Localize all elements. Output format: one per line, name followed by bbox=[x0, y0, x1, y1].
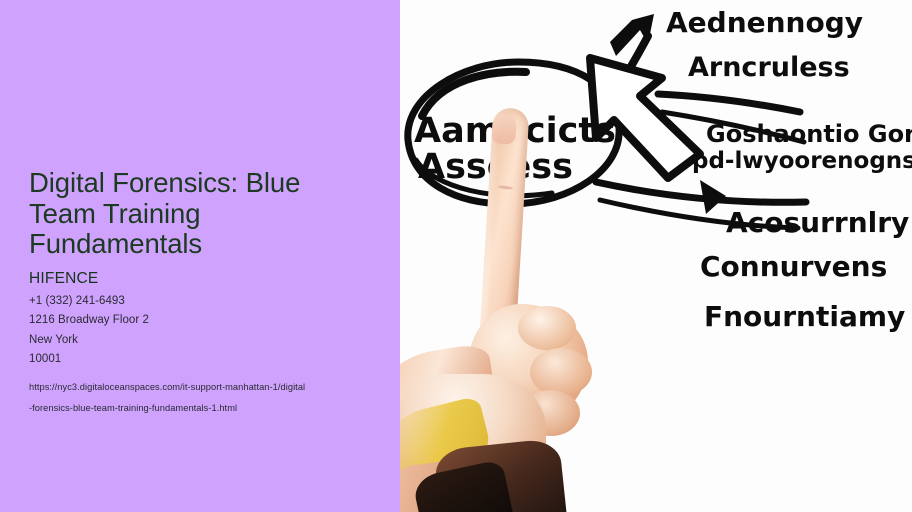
info-panel: Digital Forensics: Blue Team Training Fu… bbox=[0, 0, 400, 512]
branch-3-line-1: Acosurrnlry bbox=[726, 206, 909, 239]
screenshot-canvas: Digital Forensics: Blue Team Training Fu… bbox=[0, 0, 912, 512]
pointing-hand-photo bbox=[400, 108, 600, 512]
phone-number[interactable]: +1 (332) 241-6493 bbox=[29, 292, 379, 312]
page-title: Digital Forensics: Blue Team Training Fu… bbox=[29, 168, 379, 260]
source-url-line-1[interactable]: https://nyc3.digitaloceanspaces.com/it-s… bbox=[29, 377, 379, 398]
knuckle-ring bbox=[530, 348, 592, 396]
city: New York bbox=[29, 331, 379, 351]
zip-code: 10001 bbox=[29, 350, 379, 370]
branch-1-line-2: Arncruless bbox=[688, 52, 850, 83]
company-name: HIFENCE bbox=[29, 269, 379, 289]
branch-3-line-2: Connurvens bbox=[700, 250, 887, 283]
source-url[interactable]: https://nyc3.digitaloceanspaces.com/it-s… bbox=[29, 377, 379, 419]
branch-1-line-1: Aednennogy bbox=[666, 6, 863, 39]
street-address: 1216 Broadway Floor 2 bbox=[29, 311, 379, 331]
knuckle-middle bbox=[518, 306, 576, 350]
text-block: Digital Forensics: Blue Team Training Fu… bbox=[29, 168, 379, 419]
source-url-line-2[interactable]: -forensics-blue-team-training-fundamenta… bbox=[29, 398, 379, 419]
article-image: Aamecicts Asscess Aednennogy Arncruless … bbox=[400, 0, 912, 512]
branch-4-line-1: Fnourntiamy bbox=[704, 300, 905, 333]
branch-2-line-1: Goshaontio Gona bbox=[706, 120, 912, 148]
fingernail bbox=[491, 113, 517, 144]
branch-2-line-2: pd-lwyoorenognse-o bbox=[692, 148, 912, 174]
